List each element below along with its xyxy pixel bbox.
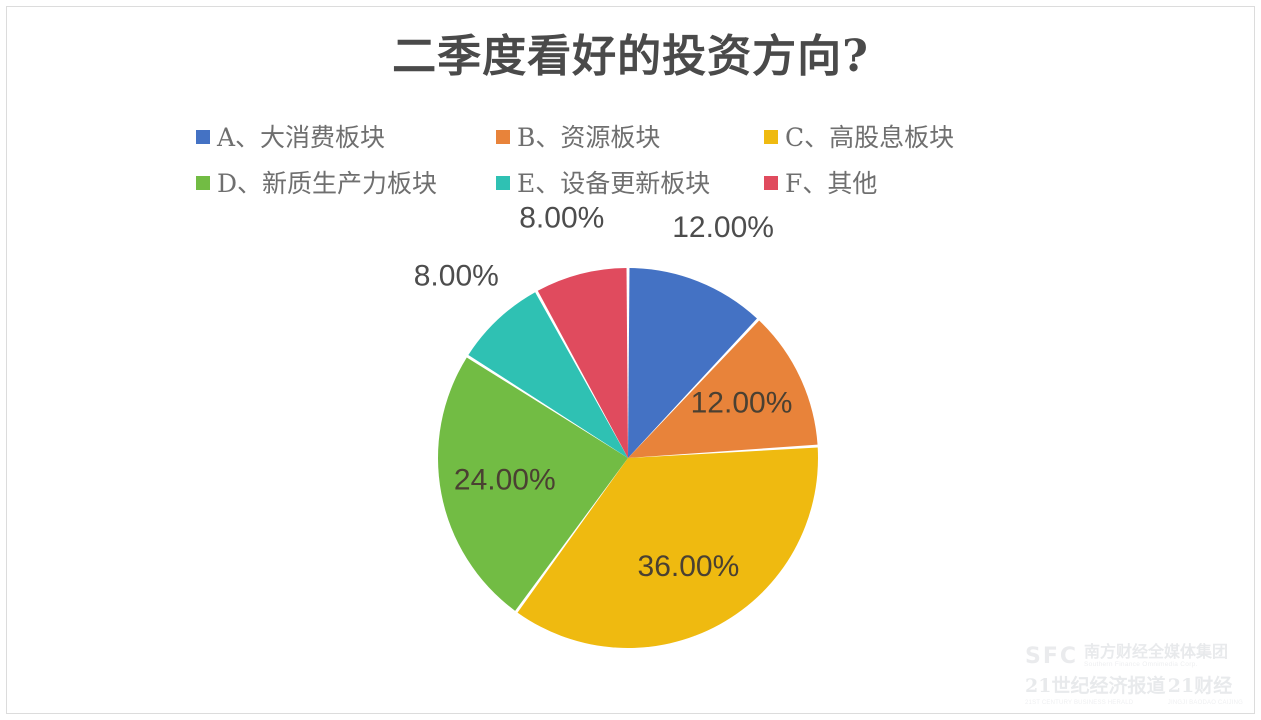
watermark-group-name-cn: 南方财经全媒体集团	[1084, 644, 1228, 660]
pie-label-b: 12.00%	[691, 387, 793, 420]
pie-label-f: 8.00%	[519, 202, 604, 235]
slide-canvas: 二季度看好的投资方向? A、大消费板块 B、资源板块 C、高股息板块 D、新质生…	[0, 0, 1261, 720]
watermark: SFC 南方财经全媒体集团 Southern Finance Omnimedia…	[1025, 644, 1243, 707]
pie-label-e: 8.00%	[414, 260, 499, 293]
pie-label-c: 36.00%	[638, 550, 740, 583]
watermark-caijing-en: JINGJI BAODAO CAIJING	[1168, 700, 1243, 706]
pie-label-d: 24.00%	[454, 463, 556, 496]
pie-chart-svg: 12.00%12.00%36.00%24.00%8.00%8.00%	[0, 0, 1261, 720]
watermark-herald-cn: 21世纪经济报道	[1025, 671, 1165, 698]
pie-chart: 12.00%12.00%36.00%24.00%8.00%8.00%	[0, 0, 1261, 720]
watermark-group-name-en: Southern Finance Omnimedia Corp.	[1084, 662, 1228, 669]
pie-label-a: 12.00%	[672, 211, 774, 244]
watermark-sfc-logo: SFC	[1025, 646, 1078, 668]
watermark-herald-en: 21ST CENTURY BUSINESS HERALD	[1025, 700, 1165, 706]
pie-slice-group	[438, 268, 818, 648]
watermark-caijing-cn: 21财经	[1168, 671, 1243, 698]
